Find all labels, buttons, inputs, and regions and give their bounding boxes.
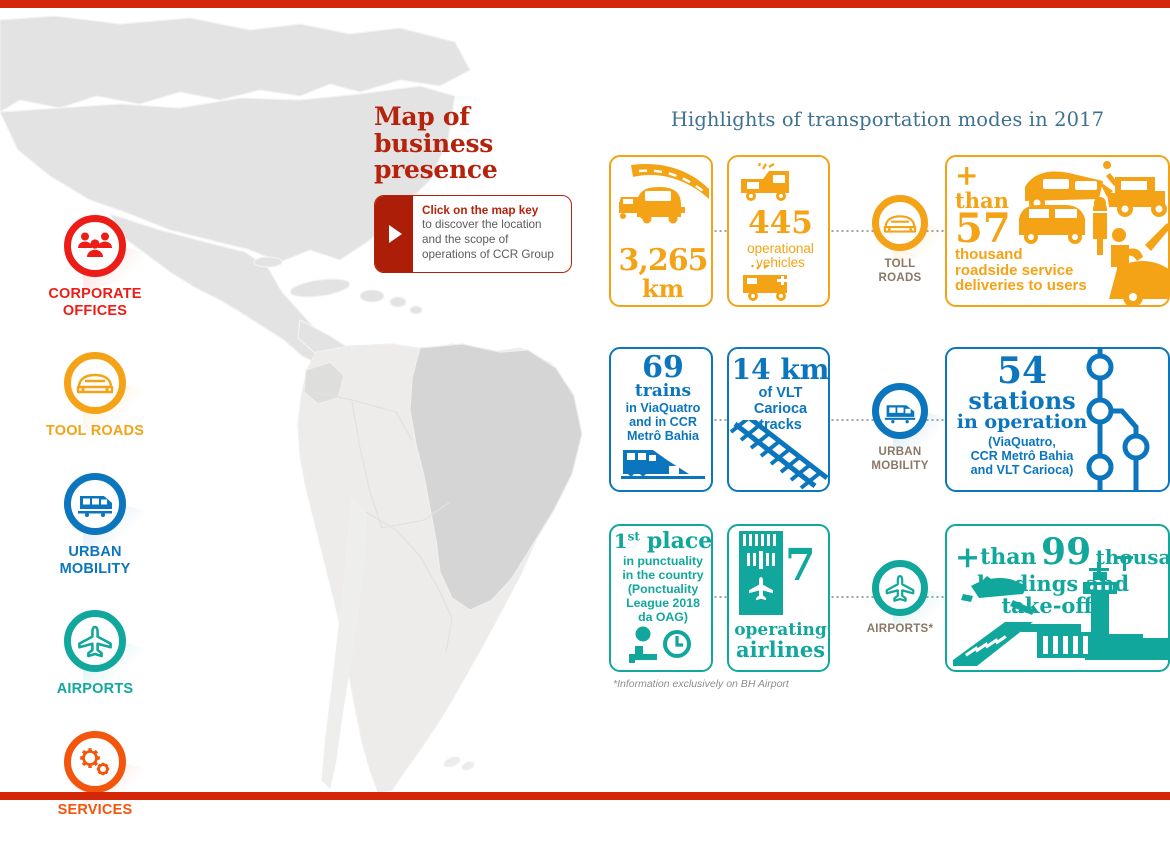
stat-card-operating-airlines[interactable]: 7 operating airlines [727, 524, 830, 672]
car-front-icon [64, 352, 126, 414]
stat-number: 57 [955, 211, 1087, 246]
stat-card-km-managed[interactable]: 3,265 km managed [609, 155, 713, 307]
highlights-panel: Highlights of transportation modes in 20… [605, 108, 1170, 706]
stat-line2: in the country [622, 568, 703, 582]
map-key-legend: CORPORATE OFFICES TOOL ROADS [20, 215, 170, 852]
stat-line2: in operation [947, 413, 1097, 433]
stat-card-vlt-tracks[interactable]: 14 km of VLT Carioca tracks [727, 347, 830, 492]
stat-line1: stations [947, 389, 1097, 413]
stat-plus: + [955, 163, 1087, 188]
tram-icon [872, 383, 928, 439]
page-title: Highlights of transportation modes in 20… [605, 108, 1170, 131]
runway-plane-icon [737, 531, 785, 621]
stat-line5: and VLT Carioca) [971, 463, 1074, 477]
stat-number: 54 [947, 353, 1097, 389]
sidebar-item-services[interactable]: SERVICES [20, 731, 170, 819]
stat-caption: managed [611, 302, 713, 307]
callout-body: Click on the map key to discover the loc… [413, 196, 571, 272]
sidebar-item-corporate-offices[interactable]: CORPORATE OFFICES [20, 215, 170, 319]
stat-line3: (Ponctuality [628, 582, 698, 596]
airports-footnote: *Information exclusively on BH Airport [613, 678, 789, 690]
stat-ordinal: st [628, 529, 640, 543]
road-cars-icon [611, 159, 713, 247]
stat-line2: take-offs [1001, 593, 1104, 618]
stat-line2: Carioca [754, 401, 807, 417]
callout-play-tab[interactable] [375, 196, 413, 272]
map-title: Map of business presence [374, 104, 579, 184]
stat-line1: trains [611, 383, 713, 400]
highlights-row-urban-mobility: 69 trains in ViaQuatro and in CCR Metrô … [605, 347, 1170, 502]
stat-line3: and in CCR [629, 415, 697, 429]
stat-number: 445 [729, 205, 830, 241]
stat-line1: landings and [977, 571, 1129, 596]
stat-thousand: thousand [1096, 545, 1170, 569]
people-group-icon [64, 215, 126, 277]
stat-line3: (ViaQuatro, [988, 435, 1056, 449]
mode-badge-label: TOLL ROADS [850, 258, 950, 285]
stat-line4: CCR Metrô Bahia [971, 449, 1074, 463]
stat-number: 99 [1041, 531, 1091, 573]
stat-line5: da OAG) [638, 610, 688, 624]
top-accent-bar [0, 0, 1170, 8]
stat-card-stations[interactable]: 54 stations in operation (ViaQuatro, CCR… [945, 347, 1170, 492]
mode-badge-urban-mobility[interactable]: URBAN MOBILITY [850, 383, 950, 473]
sidebar-item-urban-mobility[interactable]: URBAN MOBILITY [20, 473, 170, 577]
stat-number: 7 [785, 544, 816, 588]
stat-line1: of VLT [758, 385, 802, 401]
callout-lead: Click on the map key [422, 204, 563, 219]
stat-line3: deliveries to users [955, 277, 1087, 294]
stat-line1: in punctuality [623, 554, 703, 568]
map-callout[interactable]: Click on the map key to discover the loc… [374, 195, 572, 273]
sidebar-item-toll-roads[interactable]: TOOL ROADS [20, 352, 170, 440]
play-triangle-icon [389, 225, 402, 243]
sidebar-label-corporate-offices: CORPORATE OFFICES [20, 286, 170, 319]
car-front-icon [872, 195, 928, 251]
map-panel: Map of business presence Click on the ma… [374, 104, 579, 273]
bottom-accent-bar [0, 792, 1170, 800]
train-icon [617, 440, 709, 484]
gears-icon [64, 731, 126, 793]
stat-line4: League 2018 [626, 596, 700, 610]
tow-truck-icon [737, 163, 829, 203]
stat-number: 3,265 [611, 243, 713, 278]
airplane-icon [872, 560, 928, 616]
sidebar-item-airports[interactable]: AIRPORTS [20, 610, 170, 698]
mode-badge-toll-roads[interactable]: TOLL ROADS [850, 195, 950, 285]
stat-number: 14 km [729, 355, 830, 384]
stat-card-roadside-service[interactable]: + than 57 thousand roadside service deli… [945, 155, 1170, 307]
seated-passenger-clock-icon [625, 626, 701, 664]
stat-line1: thousand [955, 246, 1023, 263]
ambulance-icon [737, 265, 829, 303]
stat-number: 69 [611, 353, 713, 383]
highlights-row-airports: 1st place in punctuality in the country … [605, 524, 1170, 684]
stat-word: place [647, 528, 712, 554]
stat-than: than [980, 544, 1036, 570]
stat-number: 1 [614, 529, 628, 553]
stat-line2: in ViaQuatro [626, 401, 701, 415]
stat-card-operational-vehicles[interactable]: 445 operational vehicles [727, 155, 830, 307]
airplane-icon [64, 610, 126, 672]
sidebar-label-urban-mobility: URBAN MOBILITY [20, 544, 170, 577]
stat-line2: roadside service [955, 262, 1073, 279]
stat-card-punctuality[interactable]: 1st place in punctuality in the country … [609, 524, 713, 672]
mode-badge-airports[interactable]: AIRPORTS* [850, 560, 950, 637]
stat-unit: km [611, 274, 713, 303]
sidebar-label-toll-roads: TOOL ROADS [20, 423, 170, 440]
stat-card-trains[interactable]: 69 trains in ViaQuatro and in CCR Metrô … [609, 347, 713, 492]
rail-track-icon [729, 420, 830, 490]
stat-card-landings-takeoffs[interactable]: +than 99 thousand landings and take-offs [945, 524, 1170, 672]
stat-line2: airlines [729, 639, 830, 662]
callout-text: to discover the location and the scope o… [422, 218, 554, 261]
sidebar-label-airports: AIRPORTS [20, 681, 170, 698]
mode-badge-label: URBAN MOBILITY [850, 446, 950, 473]
train-icon [64, 473, 126, 535]
mode-badge-label: AIRPORTS* [850, 623, 950, 637]
stat-plus: + [955, 540, 980, 575]
stat-line1: operational [747, 241, 814, 256]
sidebar-label-services: SERVICES [20, 802, 170, 819]
highlights-row-toll-roads: 3,265 km managed 445 operatio [605, 155, 1170, 325]
